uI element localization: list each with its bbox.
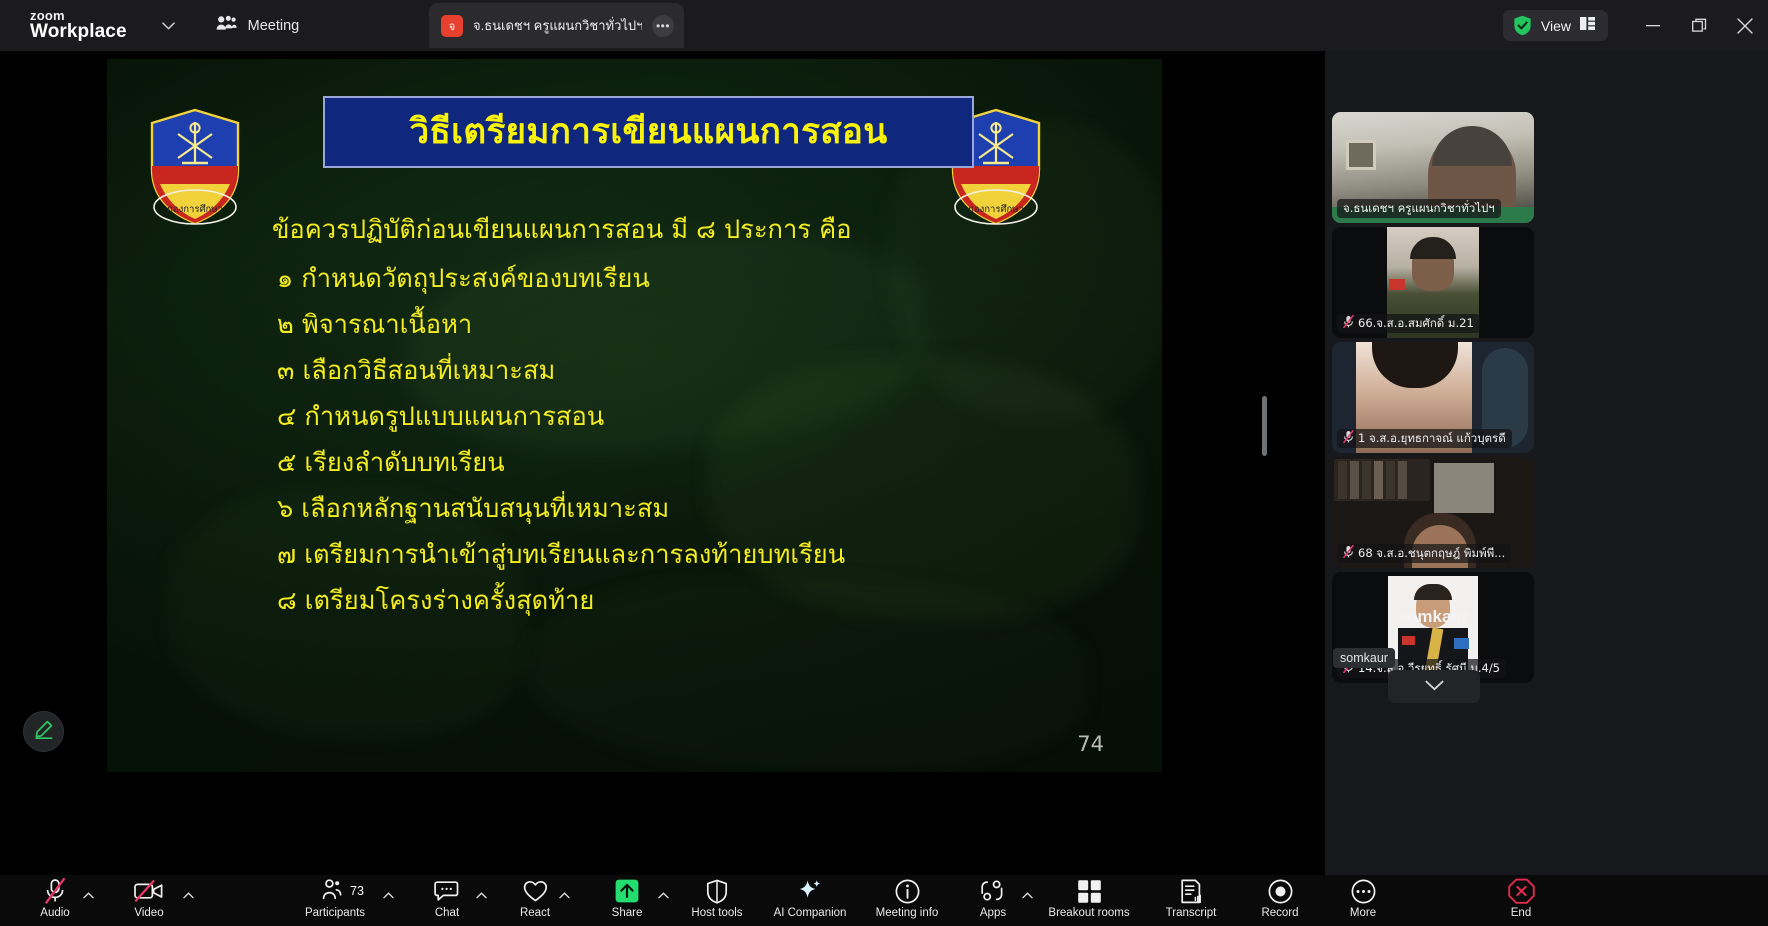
view-button[interactable]: View [1503,10,1608,41]
toolbar-participants-caret[interactable] [383,891,394,901]
brand-line-zoom: zoom [30,9,127,22]
tab-meeting-label: Meeting [248,18,300,34]
slide-title-text: วิธีเตรียมการเขียนแผนการสอน [410,115,888,150]
slide-list-item: ๕ เรียงลำดับบทเรียน [272,440,1112,486]
minimize-button[interactable] [1630,0,1676,51]
tab-shared-screen[interactable]: จ จ.ธนเดชฯ ครูแผนกวิชาทั่วไปฯ's screen •… [429,3,684,48]
brand-line-workplace: Workplace [30,22,127,41]
info-circle-icon [895,878,920,904]
toolbar-react-caret[interactable] [559,891,570,901]
slide-list-item: ๗ เตรียมการนำเข้าสู่บทเรียนและการลงท้ายบ… [272,532,1112,578]
toolbar-video-caret[interactable] [183,891,194,901]
mic-muted-icon [1343,430,1354,448]
participant-name-bar: จ.ธนเดชฯ ครูแผนกวิชาทั่วไปฯ [1337,199,1501,218]
participants-count-badge: 73 [350,884,364,898]
share-screen-icon [614,878,640,904]
toolbar-react-label: React [520,907,550,919]
toolbar-share-caret[interactable] [658,891,669,901]
toolbar-audio-caret[interactable] [83,891,94,901]
camera-muted-icon [134,878,164,904]
meeting-toolbar: Audio Video Participants 73 [0,875,1768,926]
more-ellipsis-icon [1351,878,1376,904]
toolbar-audio-label: Audio [40,907,69,919]
toolbar-host-tools-button[interactable]: Host tools [678,878,756,926]
slide-page-number: 74 [1077,732,1104,756]
chevron-down-icon[interactable] [156,13,182,39]
participant-tile[interactable]: จ.ธนเดชฯ ครูแผนกวิชาทั่วไปฯ [1332,112,1534,223]
tab-meeting[interactable]: Meeting [204,9,312,43]
mic-muted-icon [1343,315,1354,333]
green-shield-check-icon [1513,15,1532,36]
tab-shared-screen-title: จ.ธนเดชฯ ครูแผนกวิชาทั่วไปฯ's screen [473,15,642,36]
toolbar-record-button[interactable]: Record [1248,878,1312,926]
slide-list-item: ๑ กำหนดวัตถุประสงค์ของบทเรียน [272,256,1112,302]
zoom-workplace-logo: zoom Workplace [30,9,127,42]
toolbar-meeting-info-label: Meeting info [876,907,939,919]
toolbar-chat-button[interactable]: Chat [424,878,470,926]
breakout-rooms-icon [1077,878,1102,904]
toolbar-apps-label: Apps [980,907,1006,919]
shared-screen-stage: กองการศึกษา กองการศึกษา วิธีเตรียมการเขี… [0,51,1325,875]
toolbar-breakout-rooms-button[interactable]: Breakout rooms [1034,878,1144,926]
slide-body: ข้อควรปฏิบัติก่อนเขียนแผนการสอน มี ๘ ประ… [272,207,1112,624]
slide-list-item: ๖ เลือกหลักฐานสนับสนุนที่เหมาะสม [272,486,1112,532]
sidebar-heading: somkaur [1332,607,1534,627]
restore-button[interactable] [1676,0,1722,51]
share-app-icon: จ [441,15,463,37]
shield-host-icon [706,878,728,904]
toolbar-ai-companion-label: AI Companion [774,907,847,919]
toolbar-end-button[interactable]: End [1496,878,1546,926]
microphone-muted-icon [43,878,67,904]
window-controls-group: View [1503,0,1768,51]
ai-sparkle-icon [797,878,823,904]
title-bar: zoom Workplace Meeting จ จ.ธนเดชฯ ครูแผน… [0,0,1768,51]
toolbar-participants-label: Participants [305,907,365,919]
toolbar-transcript-label: Transcript [1166,907,1217,919]
slide-list-item: ๒ พิจารณาเนื้อหา [272,302,1112,348]
army-education-crest-icon: กองการศึกษา [138,106,252,231]
toolbar-audio-button[interactable]: Audio [30,878,80,926]
participant-name: 66.จ.ส.อ.สมศักดิ์ ม.21 [1358,315,1474,333]
annotate-button[interactable] [23,711,64,752]
slide-title-banner: วิธีเตรียมการเขียนแผนการสอน [323,96,974,168]
sidebar-expand-button[interactable] [1388,670,1480,703]
toolbar-react-button[interactable]: React [511,878,559,926]
participant-tile[interactable]: 68 จ.ส.อ.ชนุตกฤษฎ์ พิมพ์พี... [1332,457,1534,568]
pencil-annotate-icon [33,719,54,745]
participant-tile[interactable]: 1 จ.ส.อ.ยุทธกาจณ์ แก้วบุตรดี [1332,342,1534,453]
stage-scroll-indicator[interactable] [1262,396,1267,456]
participants-filmstrip: จ.ธนเดชฯ ครูแผนกวิชาทั่วไปฯ 66.จ.ส.อ.สมศ… [1325,51,1768,875]
participant-name: 68 จ.ส.อ.ชนุตกฤษฎ์ พิมพ์พี... [1358,545,1505,563]
slide-list-item: ๓ เลือกวิธีสอนที่เหมาะสม [272,348,1112,394]
participant-name: 1 จ.ส.อ.ยุทธกาจณ์ แก้วบุตรดี [1358,430,1506,448]
close-button[interactable] [1722,0,1768,51]
participant-name: จ.ธนเดชฯ ครูแผนกวิชาทั่วไปฯ [1343,200,1495,218]
toolbar-ai-companion-button[interactable]: AI Companion [762,878,858,926]
view-button-label: View [1541,18,1571,34]
apps-icon [980,878,1006,904]
toolbar-apps-caret[interactable] [1022,891,1033,901]
toolbar-breakout-rooms-label: Breakout rooms [1048,907,1129,919]
end-call-icon [1508,878,1535,904]
toolbar-record-label: Record [1261,907,1298,919]
layout-view-icon [1580,17,1595,35]
toolbar-end-label: End [1511,907,1531,919]
slide-list-item: ๘ เตรียมโครงร่างครั้งสุดท้าย [272,578,1112,624]
participant-name-bar: 68 จ.ส.อ.ชนุตกฤษฎ์ พิมพ์พี... [1337,544,1511,563]
mic-muted-icon [1343,545,1354,563]
record-circle-icon [1268,878,1293,904]
participant-name-bar: 66.จ.ส.อ.สมศักดิ์ ม.21 [1337,314,1480,333]
chevron-down-icon [1425,678,1444,696]
svg-text:กองการศึกษา: กองการศึกษา [167,204,223,215]
toolbar-meeting-info-button[interactable]: Meeting info [862,878,952,926]
toolbar-video-label: Video [134,907,163,919]
chat-bubble-icon [434,878,460,904]
presentation-slide: กองการศึกษา กองการศึกษา วิธีเตรียมการเขี… [107,59,1162,772]
toolbar-host-tools-label: Host tools [691,907,742,919]
toolbar-chat-label: Chat [435,907,459,919]
toolbar-more-label: More [1350,907,1376,919]
heart-react-icon [523,878,548,904]
transcript-icon [1180,878,1203,904]
toolbar-apps-button[interactable]: Apps [967,878,1019,926]
tab-overflow-icon[interactable]: ••• [652,15,674,37]
toolbar-share-label: Share [612,907,643,919]
participant-tile[interactable]: 66.จ.ส.อ.สมศักดิ์ ม.21 [1332,227,1534,338]
toolbar-more-button[interactable]: More [1332,878,1394,926]
people-icon [216,15,237,36]
slide-list-item: ๔ กำหนดรูปแบบแผนการสอน [272,394,1112,440]
slide-body-heading: ข้อควรปฏิบัติก่อนเขียนแผนการสอน มี ๘ ประ… [272,207,1112,253]
sidebar-name-badge: somkaur [1333,648,1395,668]
participant-name-bar: 1 จ.ส.อ.ยุทธกาจณ์ แก้วบุตรดี [1337,429,1512,448]
toolbar-chat-caret[interactable] [476,891,487,901]
toolbar-video-button[interactable]: Video [124,878,174,926]
toolbar-share-button[interactable]: Share [604,878,650,926]
participants-icon [322,878,348,904]
toolbar-transcript-button[interactable]: Transcript [1150,878,1232,926]
